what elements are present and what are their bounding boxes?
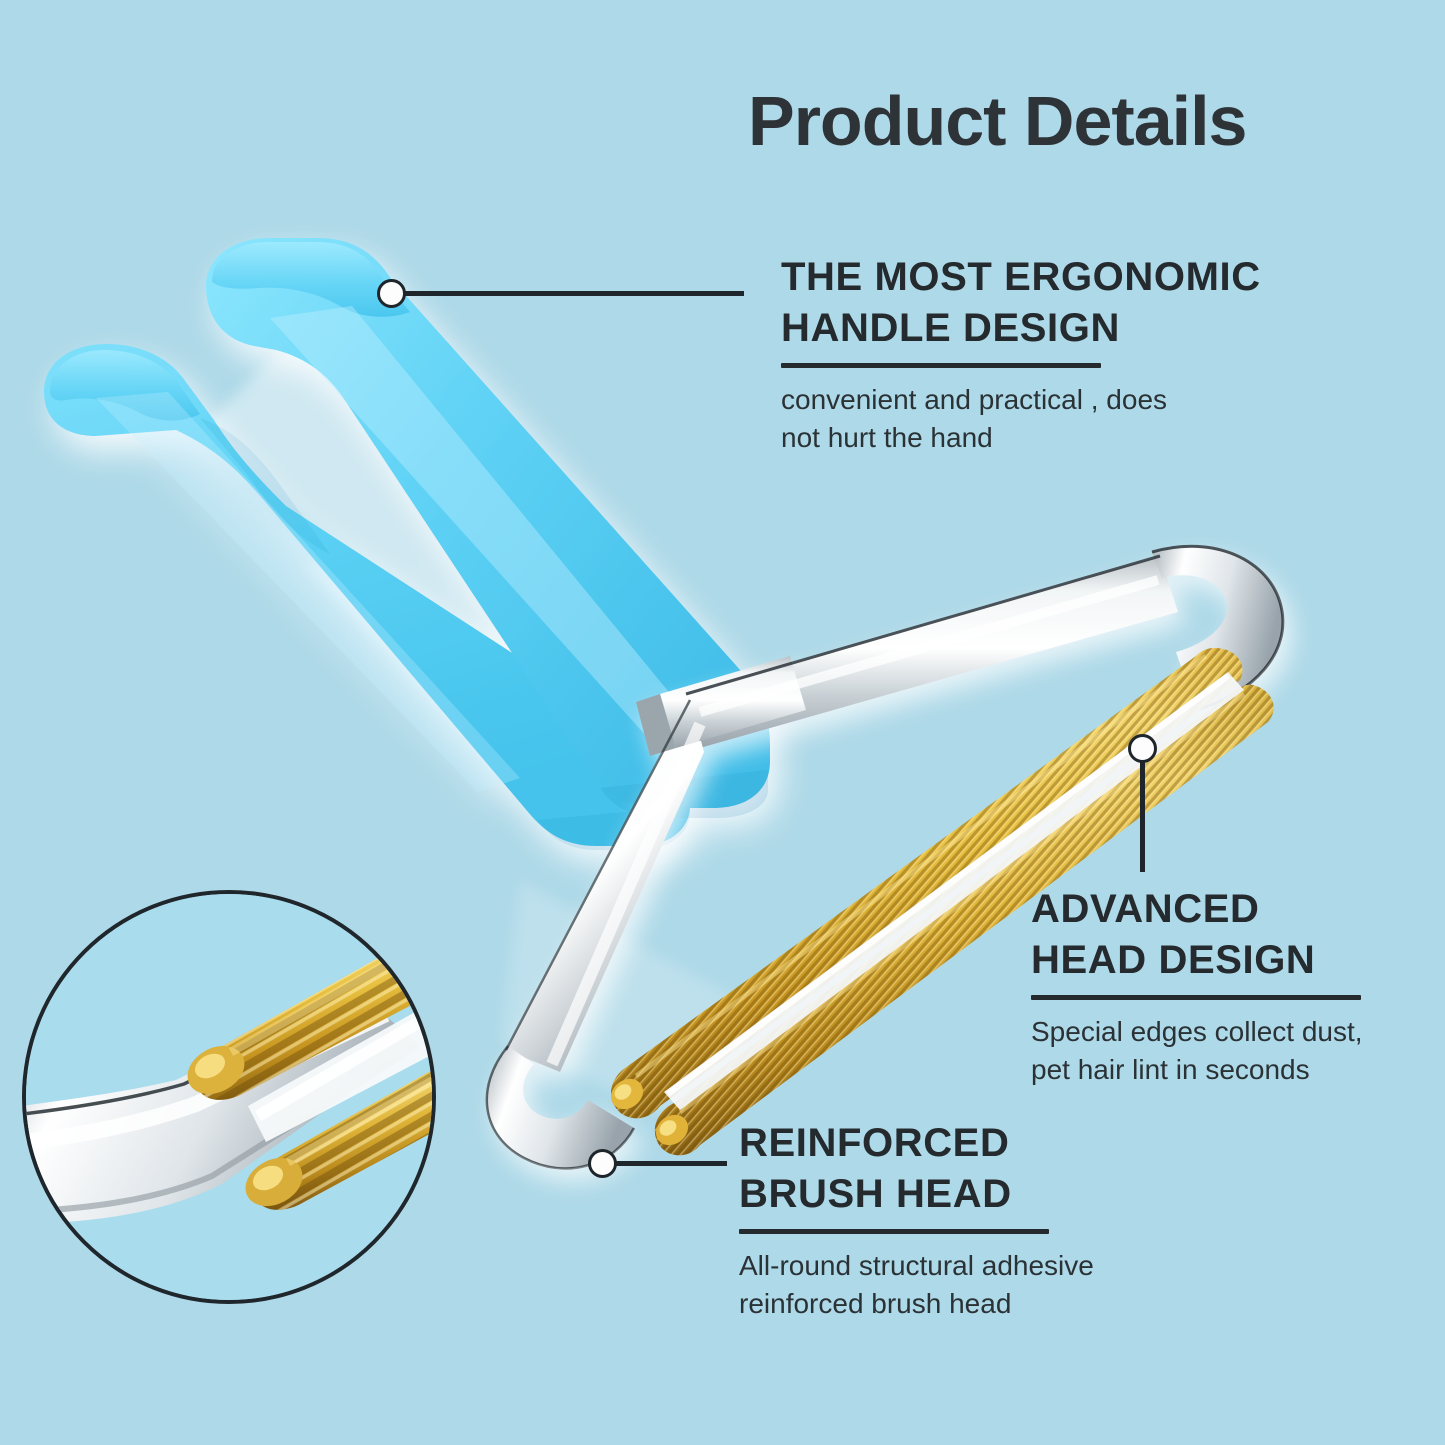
callout-ergonomic-handle: THE MOST ERGONOMIC HANDLE DESIGN conveni… — [781, 252, 1261, 456]
callout-heading-line2: BRUSH HEAD — [739, 1169, 1094, 1220]
callout-heading-line1: THE MOST ERGONOMIC — [781, 252, 1261, 303]
callout-heading-line2: HANDLE DESIGN — [781, 303, 1261, 354]
callout-advanced-head: ADVANCED HEAD DESIGN Special edges colle… — [1031, 884, 1363, 1088]
callout-reinforced-brush-head: REINFORCED BRUSH HEAD All-round structur… — [739, 1118, 1094, 1322]
callout-underline-rule — [739, 1229, 1049, 1234]
callout-heading-line1: ADVANCED — [1031, 884, 1363, 935]
callout-heading-line2: HEAD DESIGN — [1031, 935, 1363, 986]
callout-body-line1: All-round structural adhesive — [739, 1247, 1094, 1284]
callout-dot-reinforced-brush-head[interactable] — [588, 1149, 617, 1178]
infographic-canvas: Product Details THE MOST ERGONOMIC HANDL… — [0, 0, 1445, 1445]
callout-body-line1: Special edges collect dust, — [1031, 1013, 1363, 1050]
leader-line-ergonomic-handle — [392, 291, 744, 296]
callout-body-line1: convenient and practical , does — [781, 381, 1261, 418]
inset-illustration — [26, 894, 436, 1304]
callout-body-line2: pet hair lint in seconds — [1031, 1051, 1363, 1088]
callout-dot-ergonomic-handle[interactable] — [377, 279, 406, 308]
callout-body-line2: reinforced brush head — [739, 1285, 1094, 1322]
callout-heading-line1: REINFORCED — [739, 1118, 1094, 1169]
page-title: Product Details — [748, 86, 1246, 156]
callout-underline-rule — [1031, 995, 1361, 1000]
magnified-brush-head-inset — [22, 890, 436, 1304]
callout-underline-rule — [781, 363, 1101, 368]
leader-line-reinforced-brush-head — [605, 1161, 727, 1166]
leader-line-advanced-head — [1140, 748, 1145, 872]
callout-body-line2: not hurt the hand — [781, 419, 1261, 456]
callout-dot-advanced-head[interactable] — [1128, 734, 1157, 763]
inset-circle-frame — [22, 890, 436, 1304]
